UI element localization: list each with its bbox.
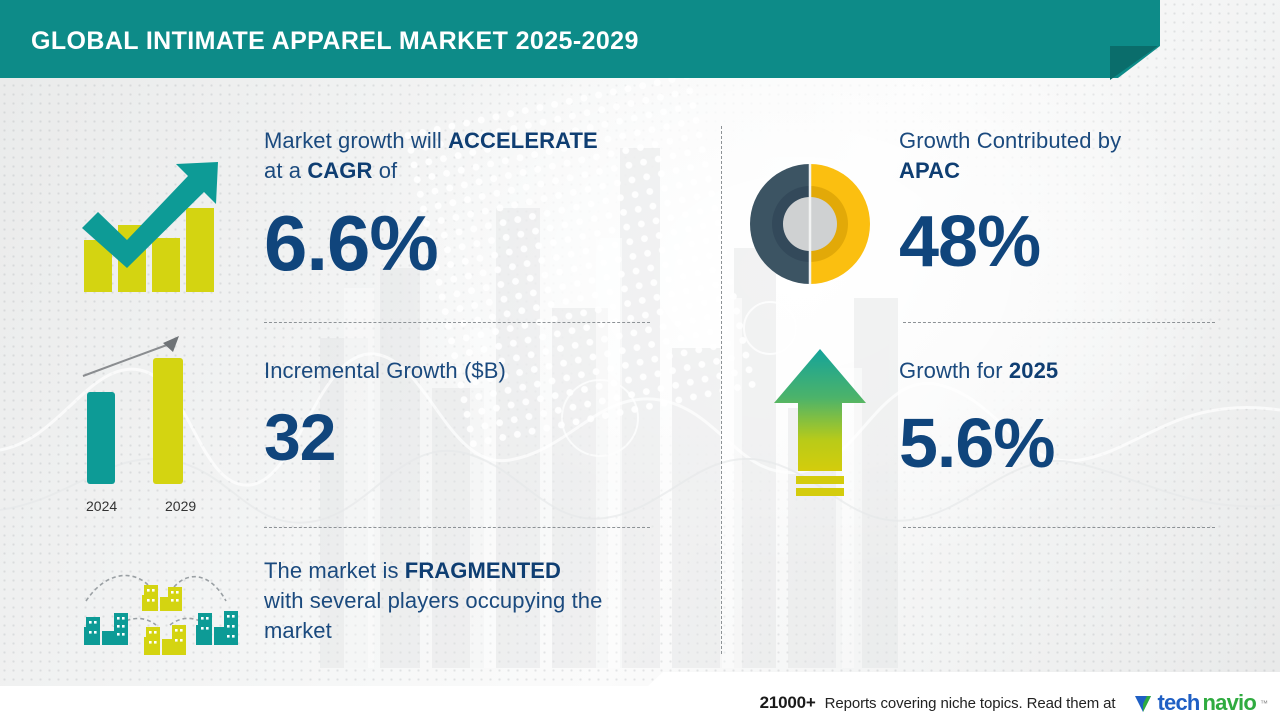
- apac-value: 48%: [899, 206, 1229, 278]
- footer-report-count: 21000+: [760, 693, 816, 713]
- header-banner: GLOBAL INTIMATE APPAREL MARKET 2025-2029: [0, 0, 1160, 78]
- up-arrow-icon: [770, 345, 870, 510]
- fragmented-line1-prefix: The market is: [264, 558, 405, 583]
- growth-2025-label-prefix: Growth for: [899, 358, 1009, 383]
- infographic-poster: GLOBAL INTIMATE APPAREL MARKET 2025-2029…: [0, 0, 1280, 720]
- logo-text-navio: navio: [1203, 690, 1256, 716]
- logo-text-tech: tech: [1157, 690, 1199, 716]
- growth-2025-caption: Growth for 2025: [899, 356, 1229, 386]
- bar-label-2024: 2024: [86, 498, 117, 514]
- growth-2025-label-emphasis: 2025: [1009, 358, 1058, 383]
- technavio-mark-icon: [1134, 692, 1154, 714]
- cagr-line2-emphasis: CAGR: [307, 158, 372, 183]
- left-divider-1: [264, 322, 650, 323]
- apac-line1: Growth Contributed by: [899, 128, 1121, 153]
- apac-caption: Growth Contributed by APAC: [899, 126, 1229, 186]
- cagr-caption: Market growth will ACCELERATE at a CAGR …: [264, 126, 664, 186]
- cagr-line2-prefix: at a: [264, 158, 307, 183]
- cagr-line2-suffix: of: [373, 158, 398, 183]
- page-title: GLOBAL INTIMATE APPAREL MARKET 2025-2029: [31, 27, 639, 56]
- donut-chart-icon: [746, 160, 874, 288]
- header-fold-corner: [1110, 46, 1162, 84]
- cagr-value: 6.6%: [264, 204, 664, 282]
- apac-contribution-block: Growth Contributed by APAC 48%: [899, 126, 1229, 278]
- column-divider: [721, 126, 722, 654]
- fragmented-line3: market: [264, 618, 332, 643]
- fragmented-line2: with several players occupying the: [264, 588, 602, 613]
- fragmented-line1-emphasis: FRAGMENTED: [405, 558, 561, 583]
- left-divider-2: [264, 527, 650, 528]
- bar-comparison-icon: [75, 330, 235, 495]
- incremental-growth-block: Incremental Growth ($B) 32: [264, 356, 664, 470]
- incremental-growth-label: Incremental Growth ($B): [264, 356, 664, 386]
- fragmented-market-block: The market is FRAGMENTED with several pl…: [264, 556, 684, 646]
- cagr-line1-emphasis: ACCELERATE: [448, 128, 598, 153]
- right-divider-1: [903, 322, 1215, 323]
- apac-line2-emphasis: APAC: [899, 158, 960, 183]
- incremental-growth-value: 32: [264, 404, 664, 470]
- cagr-line1-prefix: Market growth will: [264, 128, 448, 153]
- fragmented-market-icon: [62, 565, 252, 665]
- growth-2025-block: Growth for 2025 5.6%: [899, 356, 1229, 478]
- technavio-logo[interactable]: technavio™: [1134, 690, 1268, 716]
- bar-label-2029: 2029: [165, 498, 196, 514]
- cagr-block: Market growth will ACCELERATE at a CAGR …: [264, 126, 664, 282]
- footer-tagline: Reports covering niche topics. Read them…: [825, 695, 1116, 712]
- growth-2025-value: 5.6%: [899, 408, 1229, 478]
- footer-content: 21000+ Reports covering niche topics. Re…: [760, 690, 1268, 716]
- logo-trademark: ™: [1260, 699, 1268, 708]
- growth-chart-icon: [78, 150, 228, 295]
- fragmented-market-caption: The market is FRAGMENTED with several pl…: [264, 556, 684, 646]
- right-divider-2: [903, 527, 1215, 528]
